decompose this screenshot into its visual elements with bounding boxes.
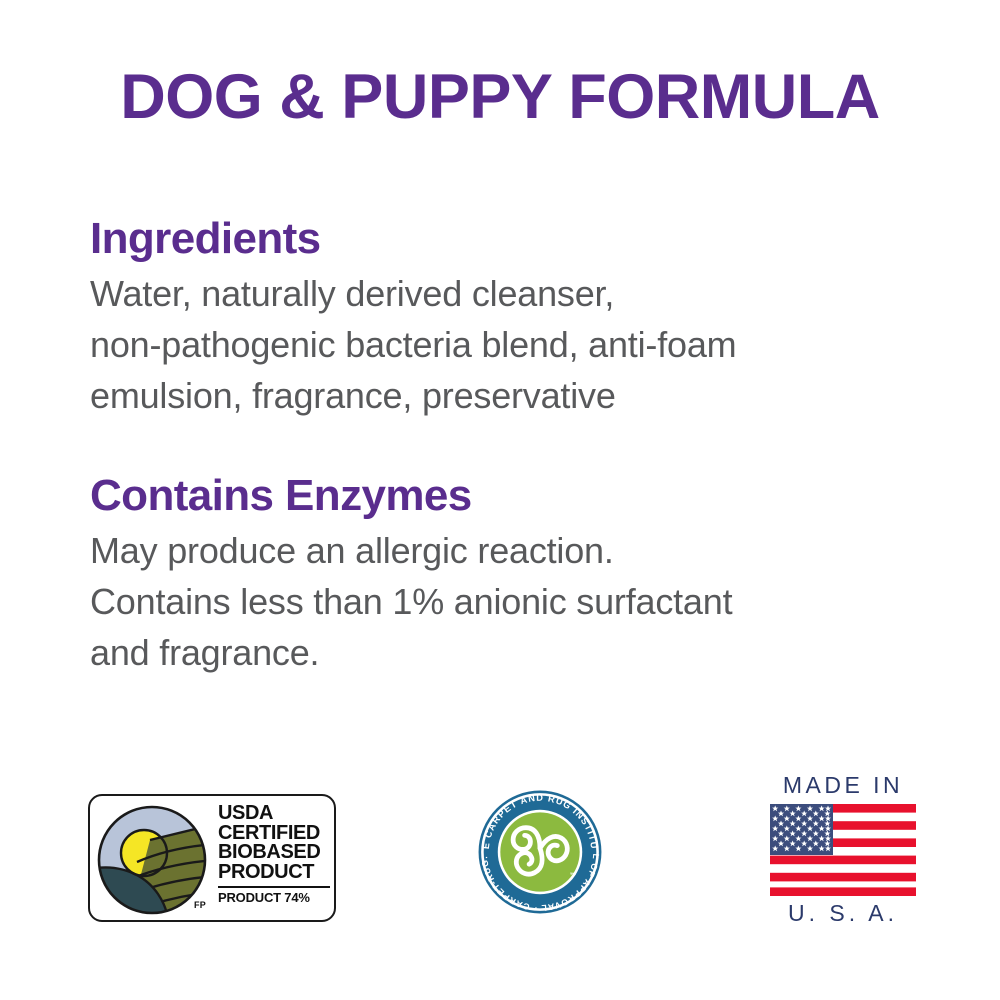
flag-canton [770,804,833,855]
ingredients-line-3: emulsion, fragrance, preservative [90,370,930,421]
usda-divider [218,886,330,888]
usda-product-percent: PRODUCT 74% [218,891,332,904]
product-label-panel: DOG & PUPPY FORMULA Ingredients Water, n… [0,0,1000,1000]
usda-badge-text: USDA CERTIFIED BIOBASED PRODUCT PRODUCT … [218,804,332,904]
usda-fp-mark: FP [194,900,206,910]
ingredients-line-2: non-pathogenic bacteria blend, anti-foam [90,319,930,370]
contains-enzymes-heading: Contains Enzymes [90,473,930,519]
section-ingredients: Ingredients Water, naturally derived cle… [90,216,930,421]
made-in-usa-badge: MADE IN [762,770,924,930]
usa-text: U. S. A. [762,902,924,925]
usda-biobased-badge: USDA CERTIFIED BIOBASED PRODUCT PRODUCT … [88,794,336,922]
ingredients-heading: Ingredients [90,216,930,262]
certification-badge-row: USDA CERTIFIED BIOBASED PRODUCT PRODUCT … [0,760,1000,940]
label-content: Ingredients Water, naturally derived cle… [90,216,930,678]
enzymes-line-3: and fragrance. [90,627,930,678]
section-contains-enzymes: Contains Enzymes May produce an allergic… [90,473,930,678]
cri-trademark-symbol: ™ [569,873,576,880]
made-in-text: MADE IN [762,774,924,797]
enzymes-line-2: Contains less than 1% anionic surfactant [90,576,930,627]
page-title: DOG & PUPPY FORMULA [0,66,1000,129]
usa-flag-icon [770,804,916,896]
ingredients-text: Water, naturally derived cleanser, non-p… [90,268,930,421]
ingredients-line-1: Water, naturally derived cleanser, [90,268,930,319]
usda-line-1: USDA [218,804,332,824]
enzymes-line-1: May produce an allergic reaction. [90,525,930,576]
usda-line-3: BIOBASED [218,843,332,863]
contains-enzymes-text: May produce an allergic reaction. Contai… [90,525,930,678]
usda-line-4: PRODUCT [218,863,332,883]
cri-seal-of-approval-badge: THE CARPET AND RUG INSTITUTE SEAL OF APP… [476,788,604,916]
